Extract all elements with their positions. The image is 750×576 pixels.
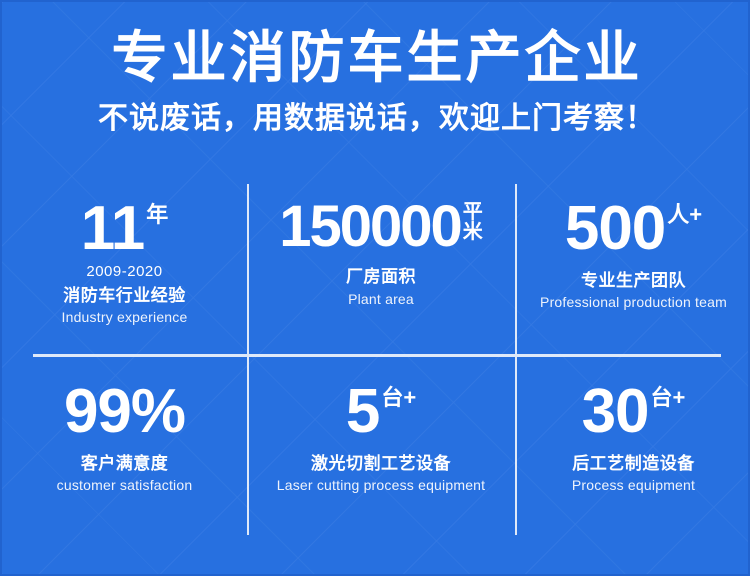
stat-unit: 台+ bbox=[649, 383, 686, 409]
stat-unit: 平 米 bbox=[461, 200, 483, 243]
stat-label-cn: 后工艺制造设备 bbox=[572, 453, 695, 474]
page-subtitle: 不说废话，用数据说话，欢迎上门考察！ bbox=[2, 88, 750, 135]
stat-label-en: Plant area bbox=[348, 291, 414, 308]
stats-grid: 11 年 2009-2020 消防车行业经验 Industry experien… bbox=[2, 184, 750, 535]
stat-cell-laser-cutting-equipment: 5 台+ 激光切割工艺设备 Laser cutting process equi… bbox=[247, 355, 515, 535]
stat-unit: 人+ bbox=[665, 200, 702, 226]
stat-number: 99% bbox=[64, 383, 185, 440]
stat-year-range: 2009-2020 bbox=[86, 264, 162, 281]
stat-label-en: Laser cutting process equipment bbox=[277, 477, 486, 494]
stat-value: 11 年 bbox=[81, 200, 169, 257]
stat-cell-production-team: 500 人+ 专业生产团队 Professional production te… bbox=[515, 184, 750, 355]
stat-unit-char-1: 平 bbox=[463, 202, 483, 222]
stat-cell-industry-experience: 11 年 2009-2020 消防车行业经验 Industry experien… bbox=[2, 184, 247, 355]
stat-label-en: customer satisfaction bbox=[57, 477, 193, 494]
stat-number: 11 bbox=[81, 200, 145, 257]
stat-value: 150000 平 米 bbox=[279, 200, 483, 253]
promo-banner: 专业消防车生产企业 不说废话，用数据说话，欢迎上门考察！ 11 年 2009-2… bbox=[0, 0, 750, 576]
stat-number: 5 bbox=[346, 383, 379, 440]
stat-label-en: Process equipment bbox=[572, 477, 695, 494]
stat-unit-char-2: 米 bbox=[463, 222, 483, 242]
stat-number: 150000 bbox=[279, 200, 461, 253]
stat-unit: 年 bbox=[144, 200, 168, 226]
page-title: 专业消防车生产企业 bbox=[2, 2, 750, 88]
stat-value: 99% bbox=[64, 383, 185, 440]
stat-number: 30 bbox=[582, 383, 649, 440]
stat-label-cn: 专业生产团队 bbox=[581, 270, 686, 291]
stat-label-cn: 激光切割工艺设备 bbox=[311, 453, 451, 474]
stat-cell-plant-area: 150000 平 米 厂房面积 Plant area bbox=[247, 184, 515, 355]
stat-unit: 台+ bbox=[379, 383, 416, 409]
stat-number: 500 bbox=[565, 200, 665, 257]
banner-header: 专业消防车生产企业 不说废话，用数据说话，欢迎上门考察！ bbox=[2, 2, 750, 135]
stat-cell-process-equipment: 30 台+ 后工艺制造设备 Process equipment bbox=[515, 355, 750, 535]
stat-value: 500 人+ bbox=[565, 200, 702, 257]
stat-label-cn: 消防车行业经验 bbox=[63, 285, 186, 306]
stat-cell-customer-satisfaction: 99% 客户满意度 customer satisfaction bbox=[2, 355, 247, 535]
stat-label-cn: 客户满意度 bbox=[81, 453, 169, 474]
stat-value: 30 台+ bbox=[582, 383, 686, 440]
stat-value: 5 台+ bbox=[346, 383, 416, 440]
stat-label-cn: 厂房面积 bbox=[346, 266, 416, 287]
stat-label-en: Professional production team bbox=[540, 294, 727, 311]
stat-label-en: Industry experience bbox=[62, 309, 188, 326]
